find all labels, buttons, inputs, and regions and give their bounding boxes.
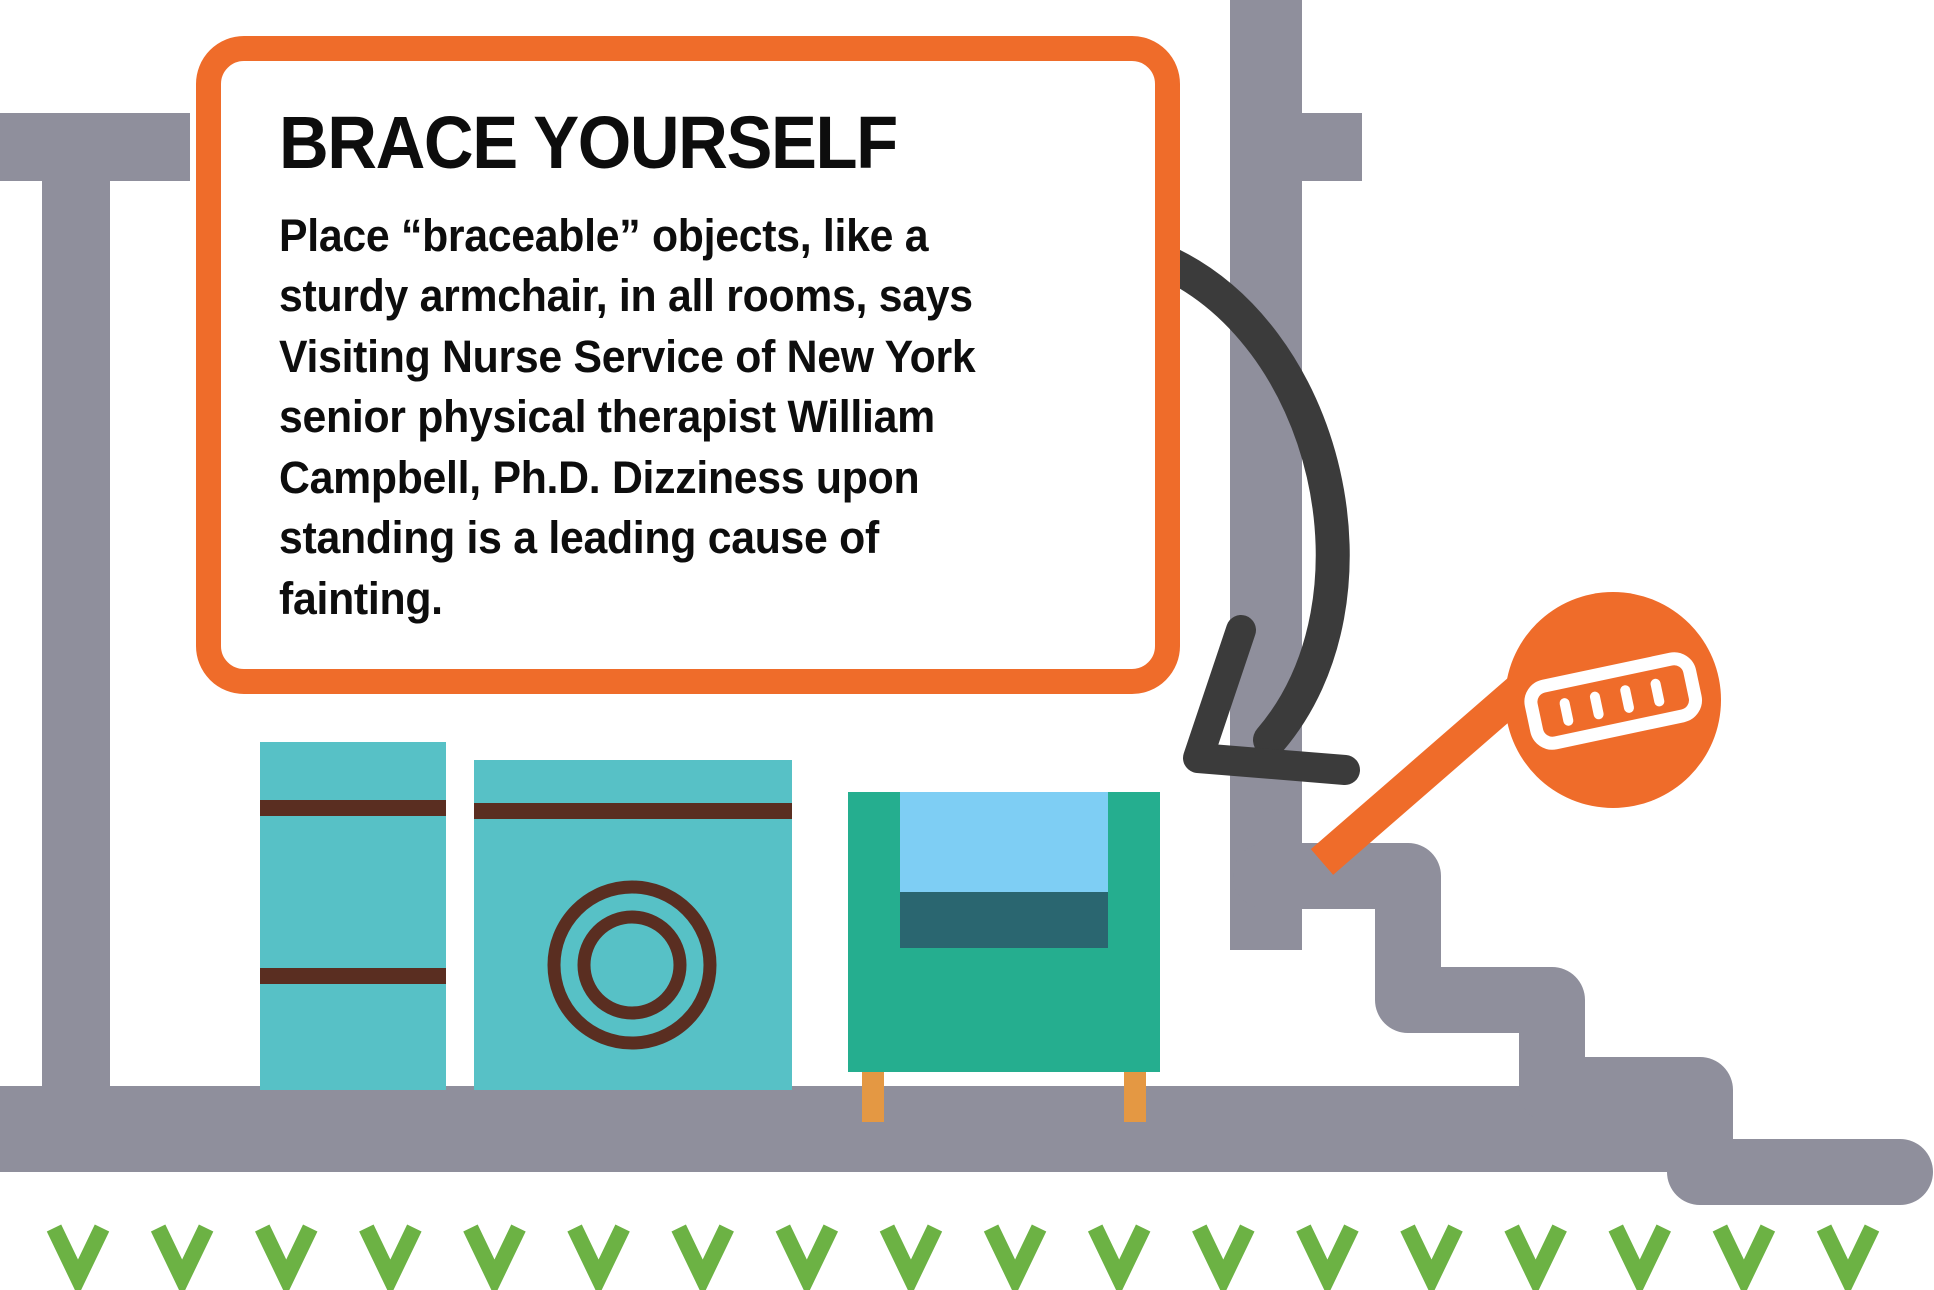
grass-chevron <box>158 1228 206 1278</box>
grass-chevron <box>1824 1228 1872 1278</box>
floor-slab <box>0 1086 1302 1172</box>
grass-chevron <box>262 1228 310 1278</box>
refrigerator <box>260 742 446 1090</box>
washing-machine <box>474 760 792 1090</box>
grab-bar-badge[interactable] <box>1322 592 1721 862</box>
callout-title: BRACE YOURSELF <box>279 107 1040 180</box>
wall-beam-left-upper <box>110 113 190 181</box>
wall-post-left <box>42 113 110 1128</box>
wall-post-right <box>1230 0 1302 950</box>
fridge-seam-upper <box>260 800 446 816</box>
grass-chevron <box>575 1228 623 1278</box>
wall-beam-right-nub <box>1302 113 1362 181</box>
callout-body: Place “braceable” objects, like a sturdy… <box>279 206 1048 630</box>
grass-chevron <box>54 1228 102 1278</box>
fridge-seam-lower <box>260 968 446 984</box>
callout-card: BRACE YOURSELF Place “braceable” objects… <box>196 36 1180 694</box>
armchair-back-cushion <box>900 792 1108 892</box>
grass-chevron <box>679 1228 727 1278</box>
grass-chevron <box>1095 1228 1143 1278</box>
grass-chevron <box>366 1228 414 1278</box>
armchair <box>848 792 1160 1122</box>
grass-chevron <box>991 1228 1039 1278</box>
grass-row <box>54 1228 1872 1278</box>
illustration-canvas: BRACE YOURSELF Place “braceable” objects… <box>0 0 1934 1290</box>
grass-chevron <box>1303 1228 1351 1278</box>
grass-chevron <box>1199 1228 1247 1278</box>
grass-chevron <box>1720 1228 1768 1278</box>
grass-chevron <box>887 1228 935 1278</box>
grass-chevron <box>470 1228 518 1278</box>
grass-chevron <box>783 1228 831 1278</box>
grass-chevron <box>1408 1228 1456 1278</box>
fridge-body <box>260 742 446 1090</box>
grass-chevron <box>1512 1228 1560 1278</box>
armchair-seat-cushion <box>900 892 1108 948</box>
grass-chevron <box>1616 1228 1664 1278</box>
washer-control-seam <box>474 803 792 819</box>
